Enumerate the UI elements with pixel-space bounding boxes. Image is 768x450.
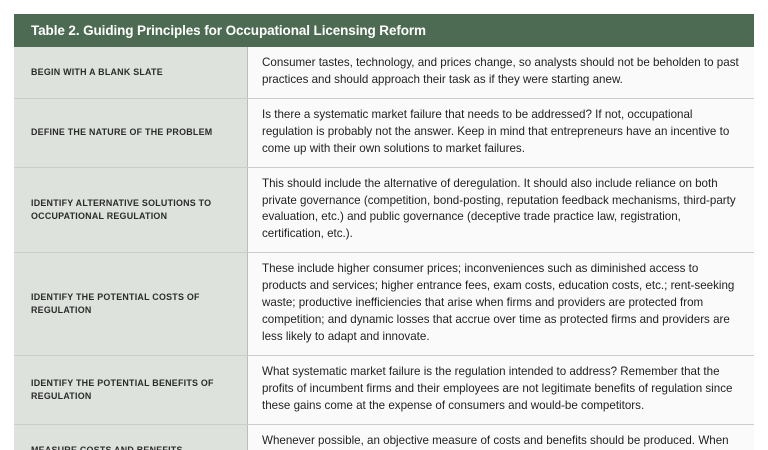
- table-row: MEASURE COSTS AND BENEFITS Whenever poss…: [14, 425, 754, 450]
- row-body-text: Consumer tastes, technology, and prices …: [262, 55, 741, 89]
- row-label-text: DEFINE THE NATURE OF THE PROBLEM: [31, 126, 212, 139]
- row-body-text: These include higher consumer prices; in…: [262, 261, 741, 346]
- row-label-cell: MEASURE COSTS AND BENEFITS: [14, 425, 248, 450]
- table-header: Table 2. Guiding Principles for Occupati…: [14, 14, 754, 47]
- table-row: IDENTIFY ALTERNATIVE SOLUTIONS TO OCCUPA…: [14, 168, 754, 254]
- row-body-text: Is there a systematic market failure tha…: [262, 107, 741, 158]
- row-label-text: IDENTIFY THE POTENTIAL COSTS OF REGULATI…: [31, 291, 235, 317]
- row-label-cell: IDENTIFY THE POTENTIAL COSTS OF REGULATI…: [14, 253, 248, 355]
- row-body-cell: This should include the alternative of d…: [248, 168, 754, 253]
- row-label-cell: IDENTIFY ALTERNATIVE SOLUTIONS TO OCCUPA…: [14, 168, 248, 253]
- row-body-cell: Consumer tastes, technology, and prices …: [248, 47, 754, 98]
- row-label-text: BEGIN WITH A BLANK SLATE: [31, 66, 163, 79]
- row-body-cell: Is there a systematic market failure tha…: [248, 99, 754, 167]
- row-body-cell: What systematic market failure is the re…: [248, 356, 754, 424]
- page-title: Table 2. Guiding Principles for Occupati…: [31, 23, 426, 38]
- row-body-cell: These include higher consumer prices; in…: [248, 253, 754, 355]
- table-row: IDENTIFY THE POTENTIAL BENEFITS OF REGUL…: [14, 356, 754, 425]
- row-body-text: Whenever possible, an objective measure …: [262, 433, 741, 450]
- table-row: IDENTIFY THE POTENTIAL COSTS OF REGULATI…: [14, 253, 754, 356]
- row-body-text: This should include the alternative of d…: [262, 176, 741, 244]
- row-label-text: IDENTIFY ALTERNATIVE SOLUTIONS TO OCCUPA…: [31, 197, 235, 223]
- table-body: BEGIN WITH A BLANK SLATE Consumer tastes…: [14, 47, 754, 450]
- row-label-cell: IDENTIFY THE POTENTIAL BENEFITS OF REGUL…: [14, 356, 248, 424]
- guiding-principles-table: Table 2. Guiding Principles for Occupati…: [14, 14, 754, 450]
- row-label-text: IDENTIFY THE POTENTIAL BENEFITS OF REGUL…: [31, 377, 235, 403]
- table-row: BEGIN WITH A BLANK SLATE Consumer tastes…: [14, 47, 754, 99]
- table-row: DEFINE THE NATURE OF THE PROBLEM Is ther…: [14, 99, 754, 168]
- row-body-text: What systematic market failure is the re…: [262, 364, 741, 415]
- row-label-cell: BEGIN WITH A BLANK SLATE: [14, 47, 248, 98]
- row-body-cell: Whenever possible, an objective measure …: [248, 425, 754, 450]
- row-label-cell: DEFINE THE NATURE OF THE PROBLEM: [14, 99, 248, 167]
- page-root: Table 2. Guiding Principles for Occupati…: [0, 0, 768, 450]
- row-label-text: MEASURE COSTS AND BENEFITS: [31, 444, 183, 450]
